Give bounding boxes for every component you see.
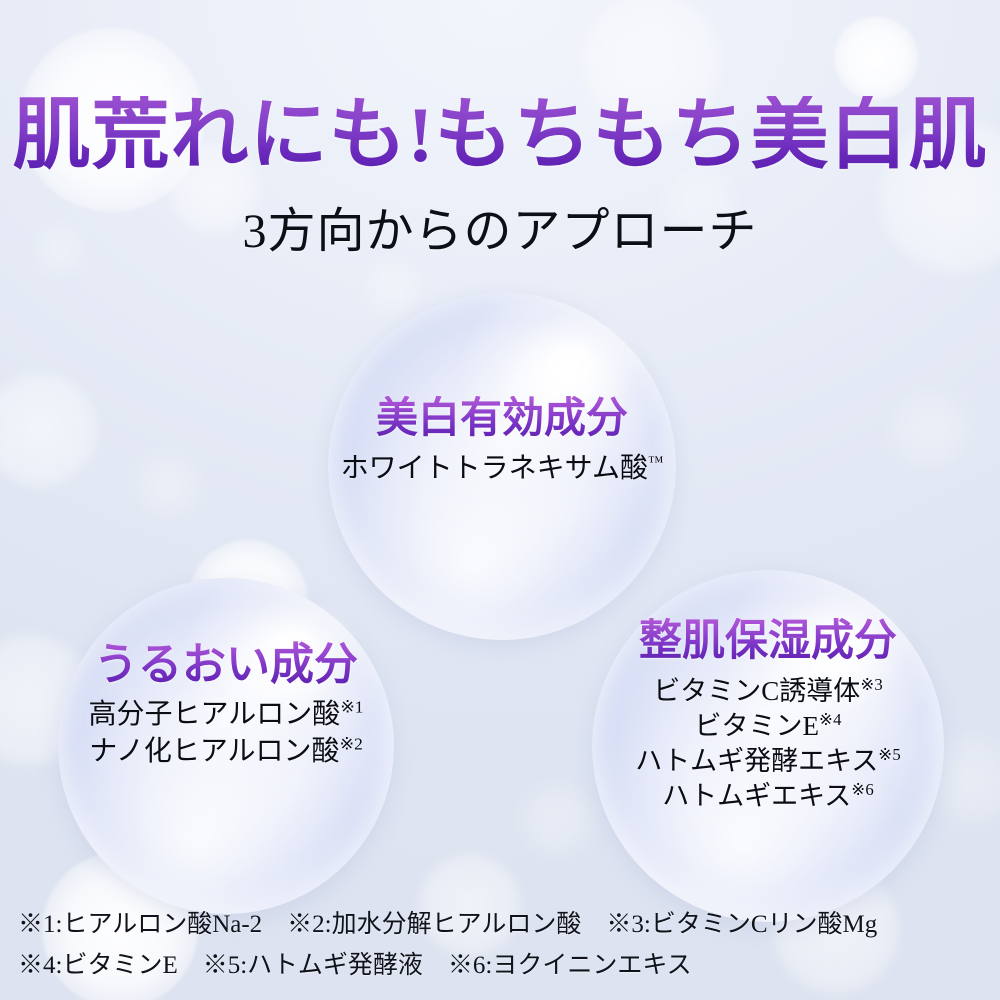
bubble-moisture: うるおい成分 高分子ヒアルロン酸※1 ナノ化ヒアルロン酸※2: [58, 578, 394, 914]
ingredient-line: ビタミンE※4: [592, 709, 944, 744]
footnote-mark: ※3: [860, 675, 882, 694]
bokeh-circle: [362, 256, 422, 316]
footnote-mark: ※4: [819, 710, 841, 729]
ingredient-line: 高分子ヒアルロン酸※1: [58, 697, 394, 733]
bubble-whitening-lines: ホワイトトラネキサム酸™: [328, 451, 676, 487]
footnote-mark: ※1: [340, 698, 363, 717]
bubble-whitening-heading: 美白有効成分: [328, 396, 676, 443]
ingredient-line: ビタミンC誘導体※3: [592, 674, 944, 709]
footnote-block: ※1:ヒアルロン酸Na-2 ※2:加水分解ヒアルロン酸 ※3:ビタミンCリン酸M…: [18, 905, 982, 986]
ingredient-text: ナノ化ヒアルロン酸: [89, 736, 339, 767]
bokeh-circle: [834, 16, 918, 100]
bubble-conditioning-lines: ビタミンC誘導体※3 ビタミンE※4 ハトムギ発酵エキス※5 ハトムギエキス※6: [592, 674, 944, 814]
footnote-line-2: ※4:ビタミンE ※5:ハトムギ発酵液 ※6:ヨクイニンエキス: [18, 946, 982, 987]
bubble-moisture-content: うるおい成分 高分子ヒアルロン酸※1 ナノ化ヒアルロン酸※2: [58, 640, 394, 770]
ingredient-line: ナノ化ヒアルロン酸※2: [58, 734, 394, 770]
bubble-conditioning-content: 整肌保湿成分 ビタミンC誘導体※3 ビタミンE※4 ハトムギ発酵エキス※5 ハト…: [592, 618, 944, 815]
page-title: 肌荒れにも!もちもち美白肌: [0, 96, 1000, 174]
trademark-mark: ™: [648, 454, 663, 471]
ingredient-text: ビタミンC誘導体: [653, 676, 860, 706]
ingredient-line: ハトムギ発酵エキス※5: [592, 744, 944, 779]
bokeh-circle: [890, 390, 970, 470]
footnote-mark: ※2: [340, 734, 363, 753]
ingredient-text: ホワイトトラネキサム酸: [341, 453, 648, 484]
poster-canvas: 肌荒れにも!もちもち美白肌 3方向からのアプローチ 美白有効成分 ホワイトトラネ…: [0, 0, 1000, 1000]
bokeh-circle: [0, 372, 98, 488]
bubble-conditioning-heading: 整肌保湿成分: [592, 618, 944, 666]
bubble-moisture-heading: うるおい成分: [58, 640, 394, 689]
bubble-moisture-lines: 高分子ヒアルロン酸※1 ナノ化ヒアルロン酸※2: [58, 697, 394, 770]
footnote-mark: ※5: [878, 745, 900, 764]
bokeh-circle: [518, 782, 594, 858]
ingredient-line: ホワイトトラネキサム酸™: [328, 451, 676, 487]
ingredient-text: ハトムギ発酵エキス: [635, 746, 878, 776]
ingredient-text: ビタミンE: [695, 711, 820, 741]
ingredient-text: ハトムギエキス: [662, 781, 851, 811]
bubble-whitening: 美白有効成分 ホワイトトラネキサム酸™: [328, 292, 676, 640]
bubble-conditioning: 整肌保湿成分 ビタミンC誘導体※3 ビタミンE※4 ハトムギ発酵エキス※5 ハト…: [592, 570, 944, 922]
ingredient-text: 高分子ヒアルロン酸: [89, 699, 341, 730]
footnote-line-1: ※1:ヒアルロン酸Na-2 ※2:加水分解ヒアルロン酸 ※3:ビタミンCリン酸M…: [18, 905, 982, 946]
footnote-mark: ※6: [851, 780, 873, 799]
bubble-whitening-content: 美白有効成分 ホワイトトラネキサム酸™: [328, 396, 676, 487]
page-subtitle: 3方向からのアプローチ: [0, 208, 1000, 256]
bokeh-circle: [134, 452, 202, 520]
ingredient-line: ハトムギエキス※6: [592, 779, 944, 814]
